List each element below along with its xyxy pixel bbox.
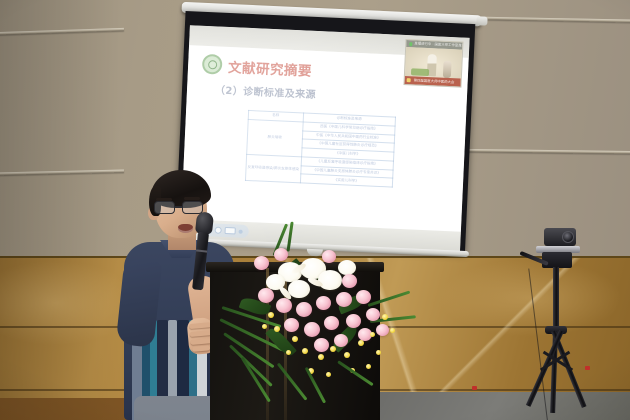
- orchid-flower: [302, 348, 308, 354]
- diagnostic-criteria-table: 名称 诊断标准及来源 肺炎喘嗽 西医《中医儿科学常见病诊疗指南》 中医《中华人民…: [245, 110, 396, 188]
- presenter-trousers: [134, 396, 218, 420]
- tripod-head: [542, 252, 572, 268]
- orchid-flower: [262, 324, 267, 329]
- orchid-flower: [286, 350, 291, 355]
- presenter-mouth: [178, 224, 193, 233]
- rose-flower: [366, 308, 380, 321]
- rose-flower: [296, 302, 312, 317]
- orchid-flower: [292, 336, 298, 342]
- orchid-flower: [330, 346, 336, 352]
- table-row-label: 反复呼吸道感染/肺炎支原体感染: [245, 154, 301, 183]
- camera-tripod-rig: [520, 228, 616, 410]
- rose-flower: [356, 290, 371, 304]
- rose-flower: [258, 288, 274, 303]
- rose-flower: [316, 296, 331, 310]
- rose-flower: [274, 248, 288, 261]
- rose-flower: [322, 250, 336, 263]
- orchid-flower: [268, 312, 274, 318]
- lily-flower: [318, 270, 342, 290]
- green-emblem-icon: [202, 54, 223, 75]
- screen-case-cap: [476, 16, 487, 25]
- tripod-column: [553, 267, 559, 329]
- orchid-flower: [390, 328, 395, 333]
- live-video-overlay[interactable]: 直播进行中 · 国医大师工作室直播间 第四届国医大师中医药大会: [403, 39, 463, 88]
- rose-flower: [284, 318, 299, 332]
- rose-flower: [304, 322, 320, 337]
- rose-flower: [276, 298, 292, 313]
- video-overlay-caption: 第四届国医大师中医药大会: [405, 76, 461, 87]
- rose-flower: [342, 274, 357, 288]
- orchid-flower: [382, 314, 388, 320]
- conference-room-photo: 文献研究摘要 （2）诊断标准及来源 名称 诊断标准及来源 肺炎喘嗽 西医《中医儿…: [0, 0, 630, 420]
- video-foreground-plant: [411, 68, 429, 76]
- rose-flower: [376, 324, 389, 336]
- rose-flower: [334, 334, 348, 347]
- video-subject: [443, 61, 452, 78]
- floral-arrangement: [218, 240, 410, 390]
- table-body: 名称 诊断标准及来源 肺炎喘嗽 西医《中医儿科学常见病诊疗指南》 中医《中华人民…: [245, 110, 395, 187]
- orchid-flower: [358, 340, 364, 346]
- orchid-flower: [344, 352, 350, 358]
- video-frame: [405, 47, 462, 79]
- orchid-flower: [326, 372, 331, 377]
- slide-title: 文献研究摘要: [228, 56, 313, 80]
- rose-flower: [254, 256, 269, 270]
- live-indicator-icon: [409, 42, 413, 46]
- rose-flower: [346, 314, 361, 328]
- orchid-flower: [274, 326, 280, 332]
- badge-icon: [407, 78, 411, 82]
- wall-shadow: [0, 0, 120, 420]
- table-row-label: 肺炎喘嗽: [247, 119, 303, 157]
- orchid-flower: [376, 350, 381, 355]
- video-camera: [544, 228, 576, 246]
- microphone-body: [192, 232, 209, 291]
- slide-subtitle: （2）诊断标准及来源: [215, 81, 317, 101]
- camera-lens-icon: [562, 231, 574, 243]
- rose-flower: [314, 338, 329, 352]
- rose-flower: [324, 316, 339, 330]
- orchid-flower: [370, 332, 375, 337]
- rose-flower: [336, 292, 352, 307]
- orchid-flower: [318, 354, 324, 360]
- presenter-eyebrow: [184, 197, 200, 200]
- floor-marker: [472, 386, 477, 390]
- orchid-flower: [366, 364, 371, 369]
- lily-flower: [288, 280, 310, 298]
- lily-flower: [338, 260, 356, 275]
